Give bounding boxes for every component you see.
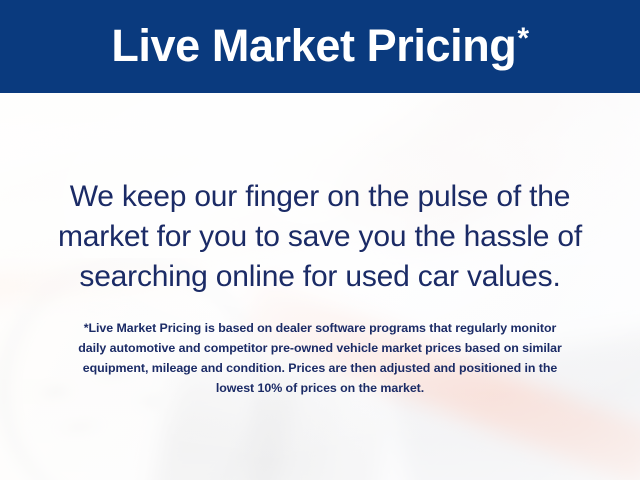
page-title: Live Market Pricing*	[111, 23, 528, 68]
page-title-asterisk: *	[517, 24, 528, 54]
headline-line: market for you to save you the hassle of	[20, 217, 620, 257]
live-market-pricing-banner: Live Market Pricing* We keep our finger …	[0, 0, 640, 480]
fineprint-disclaimer: *Live Market Pricing is based on dealer …	[28, 318, 612, 398]
header-bar: Live Market Pricing*	[0, 0, 640, 93]
fineprint-line: equipment, mileage and condition. Prices…	[28, 358, 612, 378]
headline-line: searching online for used car values.	[20, 257, 620, 297]
fineprint-line: daily automotive and competitor pre-owne…	[28, 338, 612, 358]
page-title-text: Live Market Pricing	[111, 23, 516, 68]
content-area: We keep our finger on the pulse of the m…	[0, 93, 640, 480]
headline: We keep our finger on the pulse of the m…	[20, 177, 620, 297]
fineprint-line: *Live Market Pricing is based on dealer …	[28, 318, 612, 338]
headline-line: We keep our finger on the pulse of the	[20, 177, 620, 217]
fineprint-line: lowest 10% of prices on the market.	[28, 378, 612, 398]
